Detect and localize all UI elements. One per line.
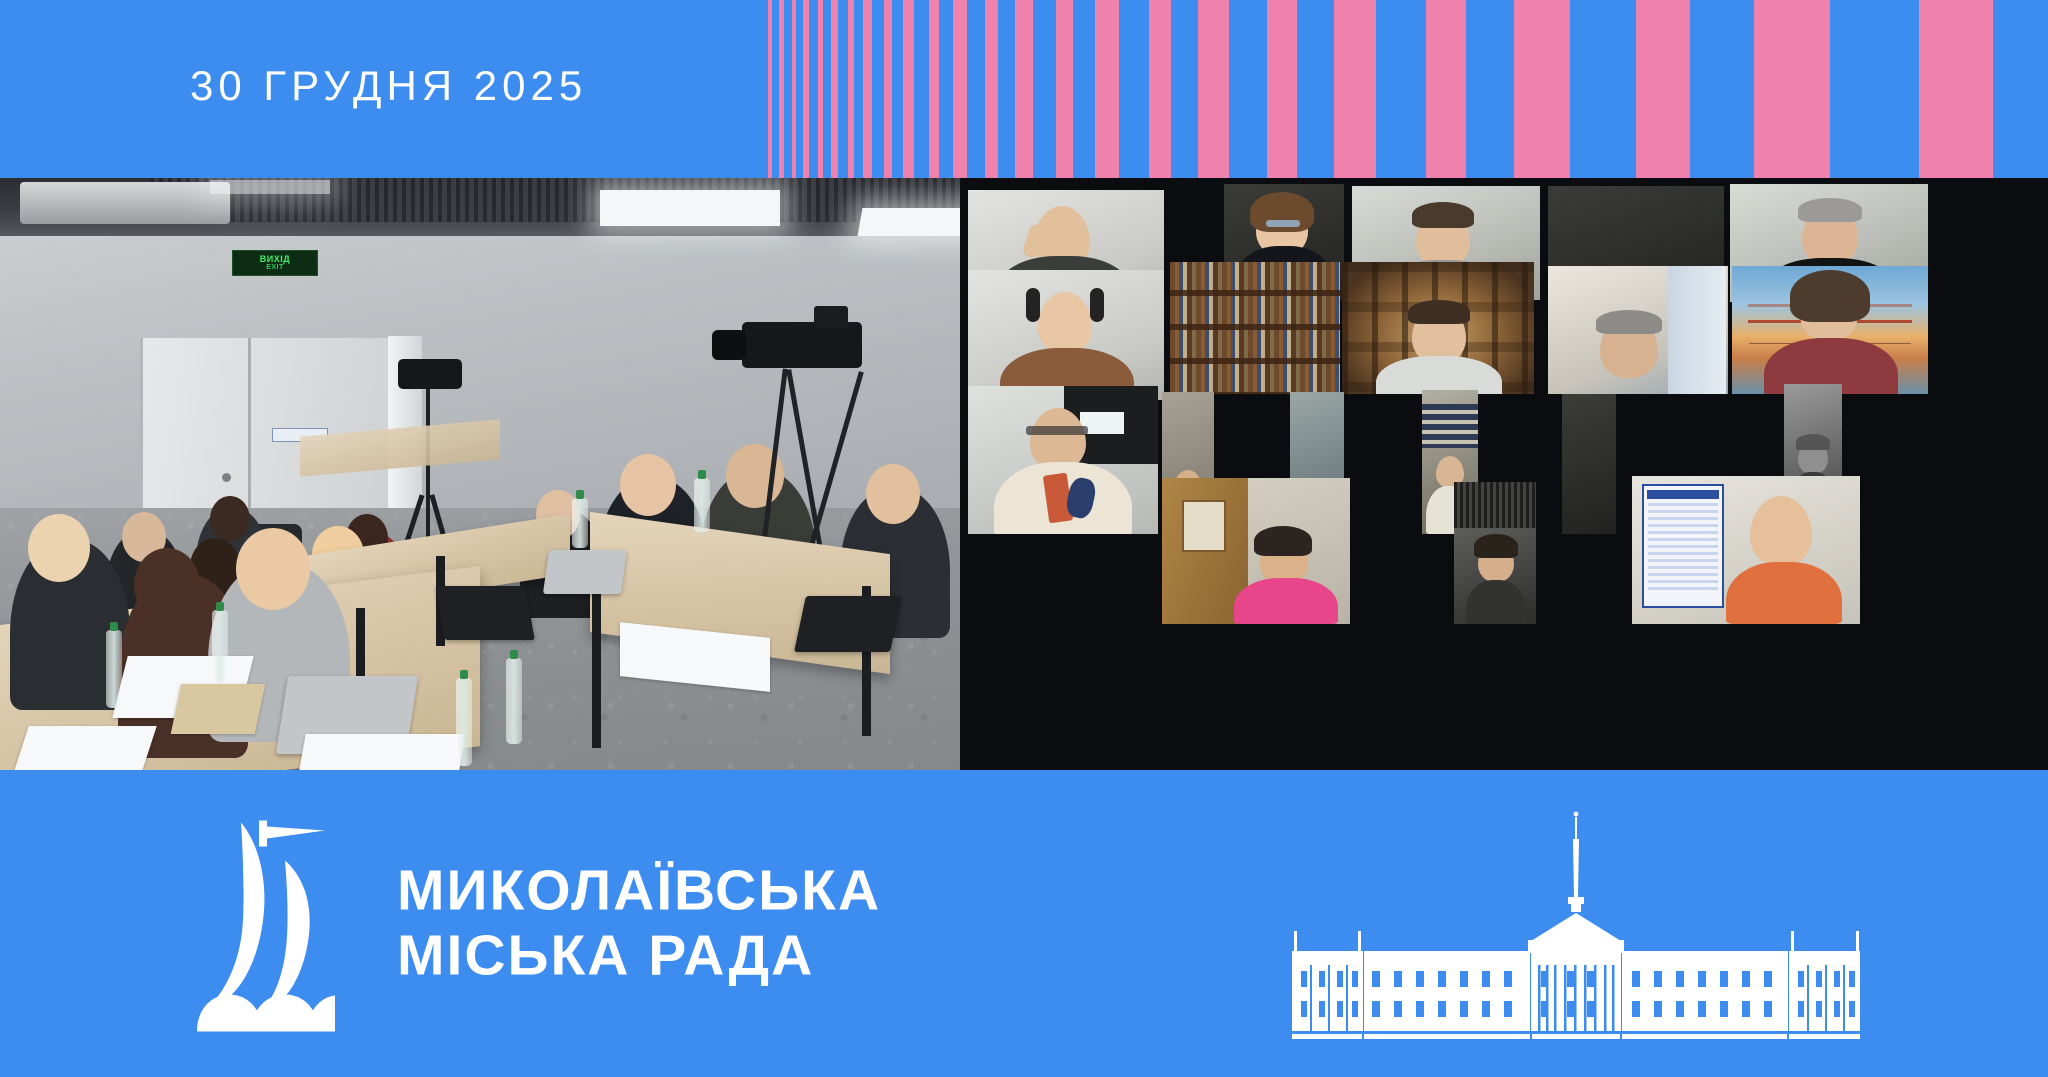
photo-strip: ВИХІД EXIT [0, 178, 2048, 770]
decorative-stripe [1267, 0, 1297, 178]
decorative-stripe [1636, 0, 1690, 178]
document-stack [294, 734, 465, 770]
attendee-head [210, 496, 250, 542]
decorative-stripe [884, 0, 892, 178]
session-hall-photo: ВИХІД EXIT [0, 178, 960, 770]
tablet [794, 596, 902, 652]
decorative-stripe [1095, 0, 1119, 178]
brand-lockup: МИКОЛАЇВСЬКА МІСЬКА РАДА [185, 816, 881, 1031]
decorative-stripe [779, 0, 784, 178]
decorative-stripe [863, 0, 872, 178]
attendee-head [28, 514, 90, 582]
decorative-stripe [1015, 0, 1033, 178]
attendee-head [134, 548, 200, 622]
bottom-banner-bar: МИКОЛАЇВСЬКА МІСЬКА РАДА [0, 770, 2048, 1077]
mykolaiv-sailing-ship-logo [185, 816, 335, 1031]
participant-tile[interactable] [1562, 394, 1616, 534]
decorative-stripe [1754, 0, 1830, 178]
decorative-stripe [792, 0, 796, 178]
decorative-stripe [1149, 0, 1171, 178]
decorative-stripe [1198, 0, 1229, 178]
decorative-stripe [1426, 0, 1466, 178]
decorative-stripe [1056, 0, 1073, 178]
organization-name-line1: МИКОЛАЇВСЬКА [397, 859, 881, 924]
water-bottle [456, 678, 472, 766]
participant-tile[interactable] [1632, 476, 1860, 624]
exit-sign-text-uk: ВИХІД [260, 255, 290, 264]
decorative-stripe [831, 0, 838, 178]
tripod-leg [805, 371, 864, 560]
ventilation-duct [20, 182, 230, 224]
decorative-stripes [768, 0, 2048, 178]
water-bottle [506, 658, 522, 744]
laptop [435, 586, 535, 640]
banner-canvas: 30 ГРУДНЯ 2025 ВИХІД EXIT [0, 0, 2048, 1077]
exit-sign: ВИХІД EXIT [232, 250, 318, 276]
camera-hood [814, 306, 848, 328]
camera-body [742, 322, 862, 368]
decorative-stripe [1334, 0, 1376, 178]
ceiling-light [210, 180, 330, 194]
organization-name: МИКОЛАЇВСЬКА МІСЬКА РАДА [397, 859, 881, 989]
water-bottle [694, 478, 710, 532]
decorative-stripe [768, 0, 772, 178]
decorative-stripe [818, 0, 823, 178]
top-banner-bar: 30 ГРУДНЯ 2025 [0, 0, 2048, 178]
decorative-stripe [953, 0, 967, 178]
water-bottle [106, 630, 122, 708]
participant-tile[interactable] [1342, 262, 1534, 394]
attendee-head [236, 528, 310, 610]
decorative-stripe [803, 0, 809, 178]
water-bottle [212, 610, 228, 682]
decorative-stripe [848, 0, 854, 178]
laptop [543, 550, 627, 594]
decorative-stripe [1919, 0, 1993, 178]
participant-tile[interactable] [1548, 266, 1728, 394]
participant-tile[interactable] [1170, 262, 1340, 394]
water-bottle [572, 498, 588, 548]
ceiling-light [858, 208, 960, 236]
organization-name-line2: МІСЬКА РАДА [397, 924, 881, 989]
qr-sheet [11, 726, 157, 770]
decorative-stripe [903, 0, 914, 178]
folder [171, 684, 266, 734]
participant-tile[interactable] [968, 270, 1164, 400]
participant-tile[interactable] [968, 386, 1158, 534]
camera-lens [712, 330, 746, 360]
participant-tile[interactable] [1162, 478, 1350, 624]
ceiling-light [600, 190, 780, 226]
decorative-stripe [1514, 0, 1570, 178]
door-handle [222, 473, 231, 482]
video-conference-grid [960, 178, 2048, 770]
wall-calendar [1642, 484, 1724, 608]
camera-body [398, 359, 462, 389]
exit-sign-text-en: EXIT [266, 264, 284, 271]
attendee-head [620, 454, 676, 516]
participant-tile[interactable] [1454, 482, 1536, 624]
decorative-stripe [985, 0, 998, 178]
stand-pole [426, 373, 430, 563]
mykolaiv-city-hall-building [1276, 809, 1876, 1039]
participant-tile[interactable] [1732, 266, 1928, 394]
session-date: 30 ГРУДНЯ 2025 [190, 62, 587, 110]
decorative-stripe [929, 0, 939, 178]
table-leg [592, 578, 601, 748]
